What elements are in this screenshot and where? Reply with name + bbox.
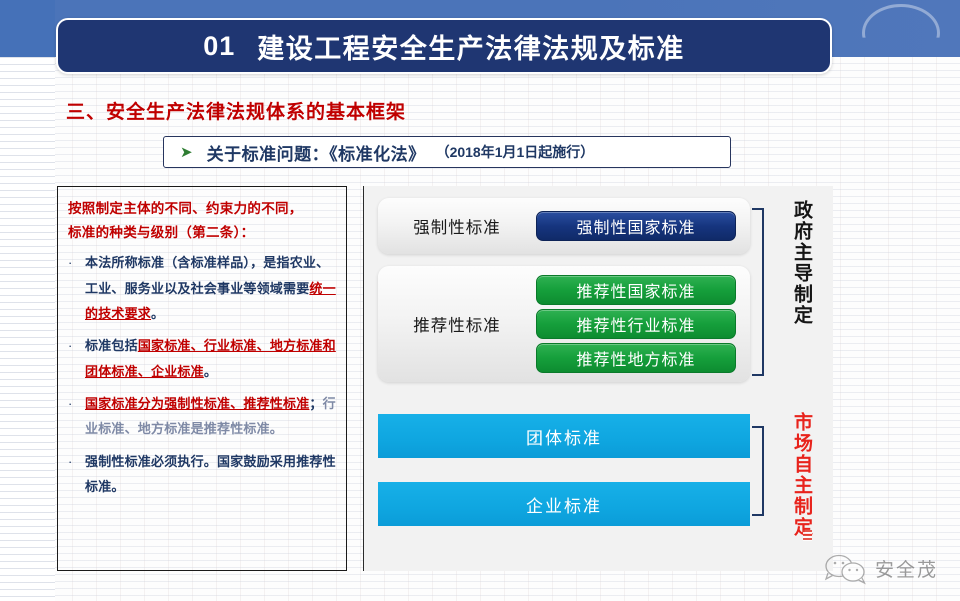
pill-recommended-industry: 推荐性行业标准 [536,309,736,339]
group-label-recommended: 推荐性标准 [378,312,536,336]
left-panel-item-text: 国家标准分为强制性标准、推荐性标准；行业标准、地方标准是推荐性标准。 [85,391,338,442]
text-segment: 。 [204,364,217,379]
pill-mandatory-national: 强制性国家标准 [536,211,736,241]
left-panel-list-item: ·强制性标准必须执行。国家鼓励采用推荐性标准。 [68,449,338,500]
pill-column-mandatory: 强制性国家标准 [536,211,750,241]
watermark: 安全茂 [824,553,938,583]
watermark-text: 安全茂 [875,555,938,582]
page-title: 01 建设工程安全生产法律法规及标准 [56,18,832,74]
section-heading: 三、安全生产法律法规体系的基本框架 [66,97,406,124]
callout-box: ➤ 关于标准问题：《标准化法》 （2018年1月1日起施行） [163,136,731,168]
left-panel-heading: 按照制定主体的不同、约束力的不同， 标准的种类与级别（第二条）： [68,197,338,244]
left-panel-list-item: ·国家标准分为强制性标准、推荐性标准；行业标准、地方标准是推荐性标准。 [68,391,338,442]
band-left-block [0,0,55,57]
left-panel-item-text: 本法所称标准（含标准样品），是指农业、工业、服务业以及社会事业等领域需要统一的技… [85,250,338,326]
left-panel-list-item: ·标准包括国家标准、行业标准、地方标准和团体标准、企业标准。 [68,333,338,384]
text-segment: 。 [151,306,164,321]
title-number: 01 [203,31,235,62]
bar-enterprise-standard: 企业标准 [378,482,750,526]
bullet-dot-icon: · [68,250,85,326]
left-text-panel: 按照制定主体的不同、约束力的不同， 标准的种类与级别（第二条）： ·本法所称标准… [57,186,347,571]
group-card-mandatory: 强制性标准 强制性国家标准 [378,198,750,254]
title-text: 建设工程安全生产法律法规及标准 [257,27,685,66]
bar-association-standard: 团体标准 [378,414,750,458]
text-segment: 标准包括 [85,338,138,353]
left-panel-item-text: 强制性标准必须执行。国家鼓励采用推荐性标准。 [85,449,338,500]
pill-recommended-national: 推荐性国家标准 [536,275,736,305]
left-stripe-decoration [0,57,55,601]
arrow-right-icon: ➤ [180,145,193,160]
side-label-government: 政府主导制定 [788,200,815,326]
group-card-recommended: 推荐性标准 推荐性国家标准 推荐性行业标准 推荐性地方标准 [378,266,750,382]
pill-column-recommended: 推荐性国家标准 推荐性行业标准 推荐性地方标准 [536,275,750,373]
pill-recommended-local: 推荐性地方标准 [536,343,736,373]
bullet-dot-icon: · [68,391,85,442]
text-segment: ； [309,396,322,411]
left-panel-list-item: ·本法所称标准（含标准样品），是指农业、工业、服务业以及社会事业等领域需要统一的… [68,250,338,326]
text-segment: 本法所称标准（含标准样品），是指农业、工业、服务业以及社会事业等领域需要 [85,255,329,295]
callout-main-text: 关于标准问题：《标准化法》 [207,140,426,165]
standards-diagram: 强制性标准 强制性国家标准 推荐性标准 推荐性国家标准 推荐性行业标准 推荐性地… [363,186,833,571]
left-panel-list: ·本法所称标准（含标准样品），是指农业、工业、服务业以及社会事业等领域需要统一的… [68,250,338,499]
red-tick-decoration [803,530,812,541]
text-segment: 国家标准分为强制性标准、推荐性标准 [85,396,309,411]
left-panel-item-text: 标准包括国家标准、行业标准、地方标准和团体标准、企业标准。 [85,333,338,384]
bullet-dot-icon: · [68,449,85,500]
left-panel-heading-line1: 按照制定主体的不同、约束力的不同， [68,197,338,221]
bullet-dot-icon: · [68,333,85,384]
callout-date-text: （2018年1月1日起施行） [436,142,595,162]
text-segment: 强制性标准必须执行。国家鼓励采用推荐性标准。 [85,454,336,494]
side-label-market: 市场自主制定 [788,412,815,538]
bracket-government [752,208,764,376]
group-label-mandatory: 强制性标准 [378,214,536,238]
left-panel-heading-line2: 标准的种类与级别（第二条）： [68,221,338,245]
wechat-icon [824,553,866,583]
slide-canvas: 01 建设工程安全生产法律法规及标准 三、安全生产法律法规体系的基本框架 ➤ 关… [0,0,960,601]
bracket-market [752,426,764,516]
